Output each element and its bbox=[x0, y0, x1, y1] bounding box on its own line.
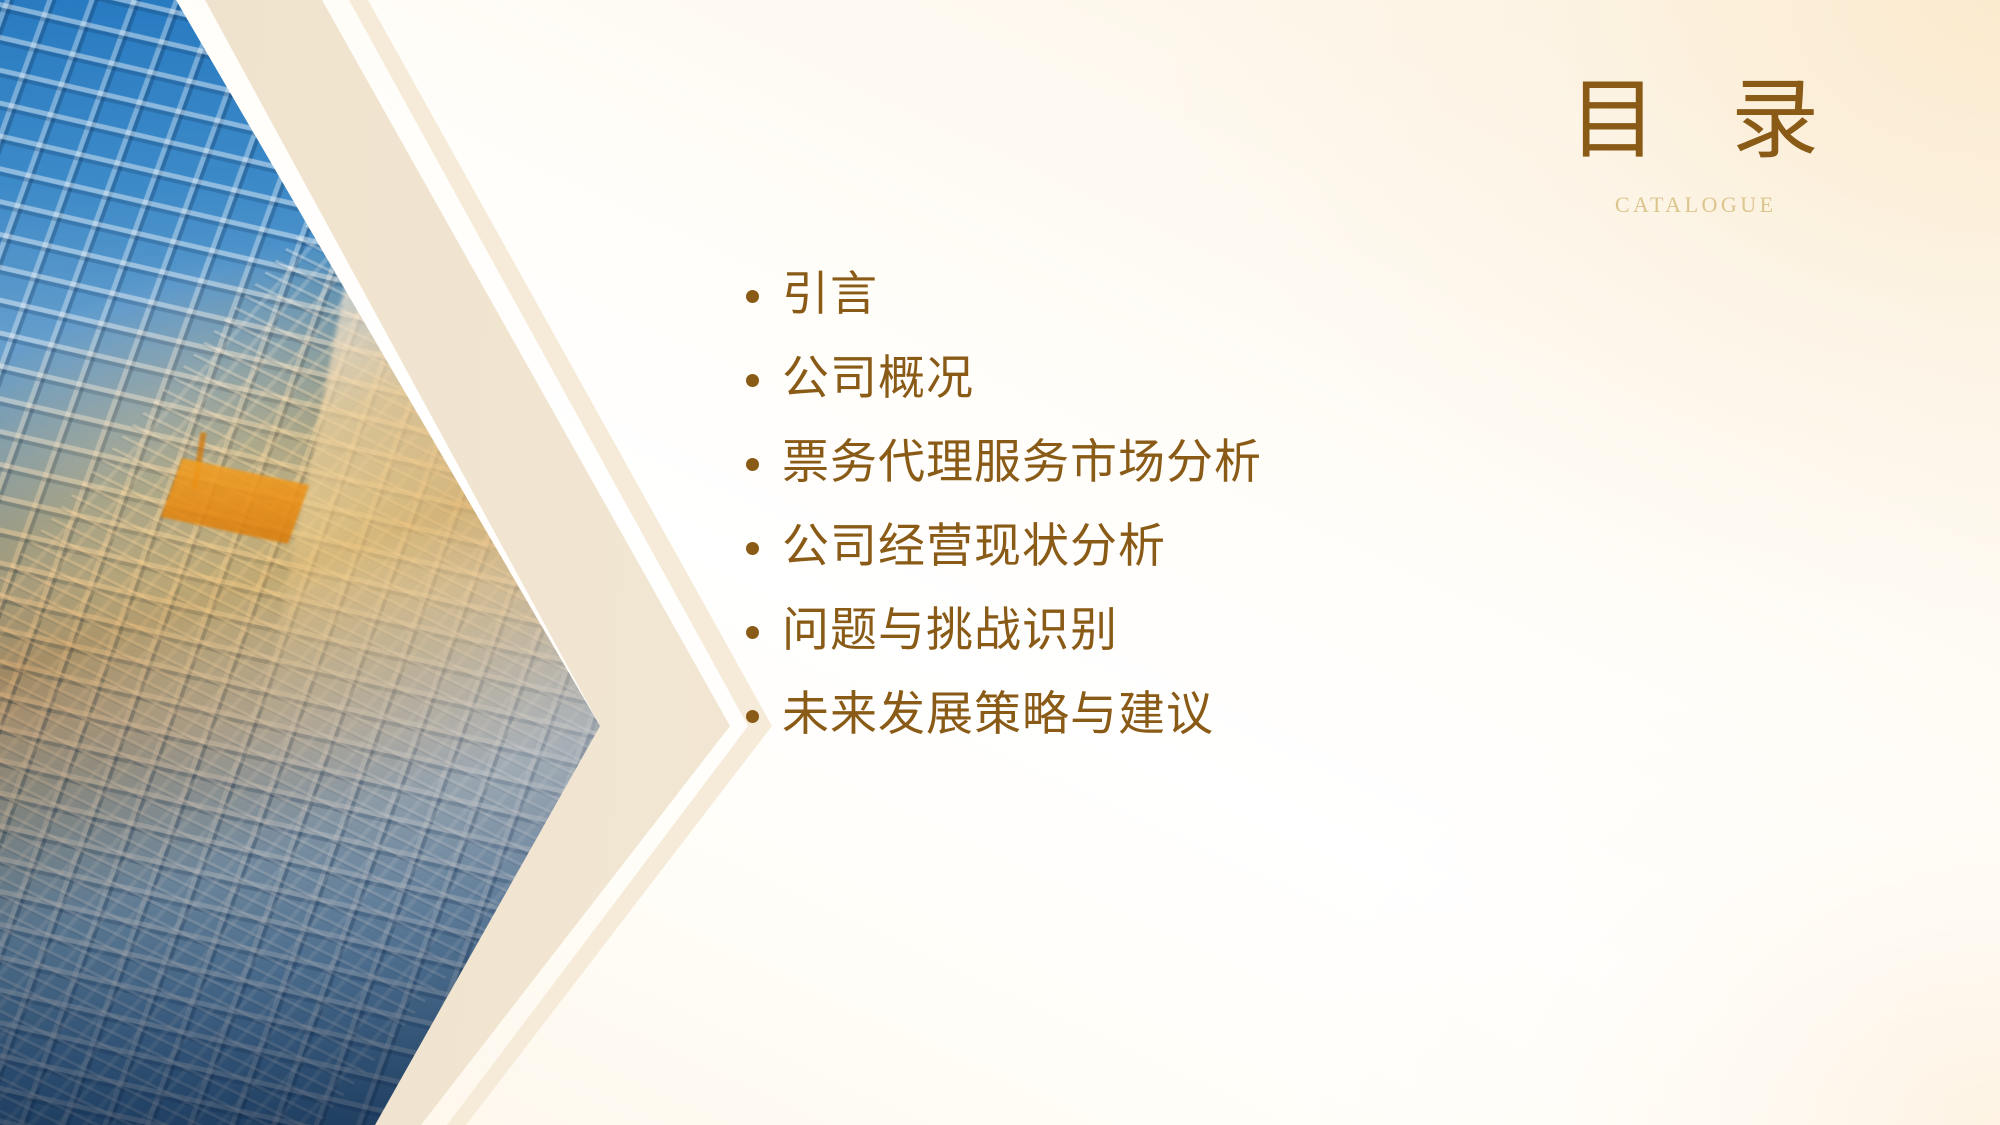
heading-block: 目 录 CATALOGUE bbox=[1484, 78, 1904, 218]
bullet-icon bbox=[746, 458, 759, 471]
bullet-icon bbox=[746, 542, 759, 555]
list-item-label: 公司概况 bbox=[782, 355, 974, 404]
bullet-icon bbox=[746, 374, 759, 387]
list-item[interactable]: 公司概况 bbox=[742, 338, 1742, 422]
table-of-contents: 引言 公司概况 票务代理服务市场分析 公司经营现状分析 问题与挑战识别 未来发展… bbox=[742, 254, 1742, 758]
list-item[interactable]: 引言 bbox=[742, 254, 1742, 338]
list-item-label: 未来发展策略与建议 bbox=[782, 691, 1214, 740]
bullet-icon bbox=[746, 290, 759, 303]
list-item-label: 引言 bbox=[782, 271, 878, 320]
bullet-icon bbox=[746, 710, 759, 723]
list-item[interactable]: 票务代理服务市场分析 bbox=[742, 422, 1742, 506]
slide-canvas: 目 录 CATALOGUE 引言 公司概况 票务代理服务市场分析 公司经营现状分… bbox=[0, 0, 2000, 1125]
list-item-label: 问题与挑战识别 bbox=[782, 607, 1118, 656]
list-item[interactable]: 问题与挑战识别 bbox=[742, 590, 1742, 674]
list-item-label: 公司经营现状分析 bbox=[782, 523, 1166, 572]
list-item-label: 票务代理服务市场分析 bbox=[782, 439, 1262, 488]
page-subtitle: CATALOGUE bbox=[1484, 192, 1904, 218]
list-item[interactable]: 公司经营现状分析 bbox=[742, 506, 1742, 590]
bullet-icon bbox=[746, 626, 759, 639]
page-title: 目 录 bbox=[1484, 78, 1904, 166]
list-item[interactable]: 未来发展策略与建议 bbox=[742, 674, 1742, 758]
